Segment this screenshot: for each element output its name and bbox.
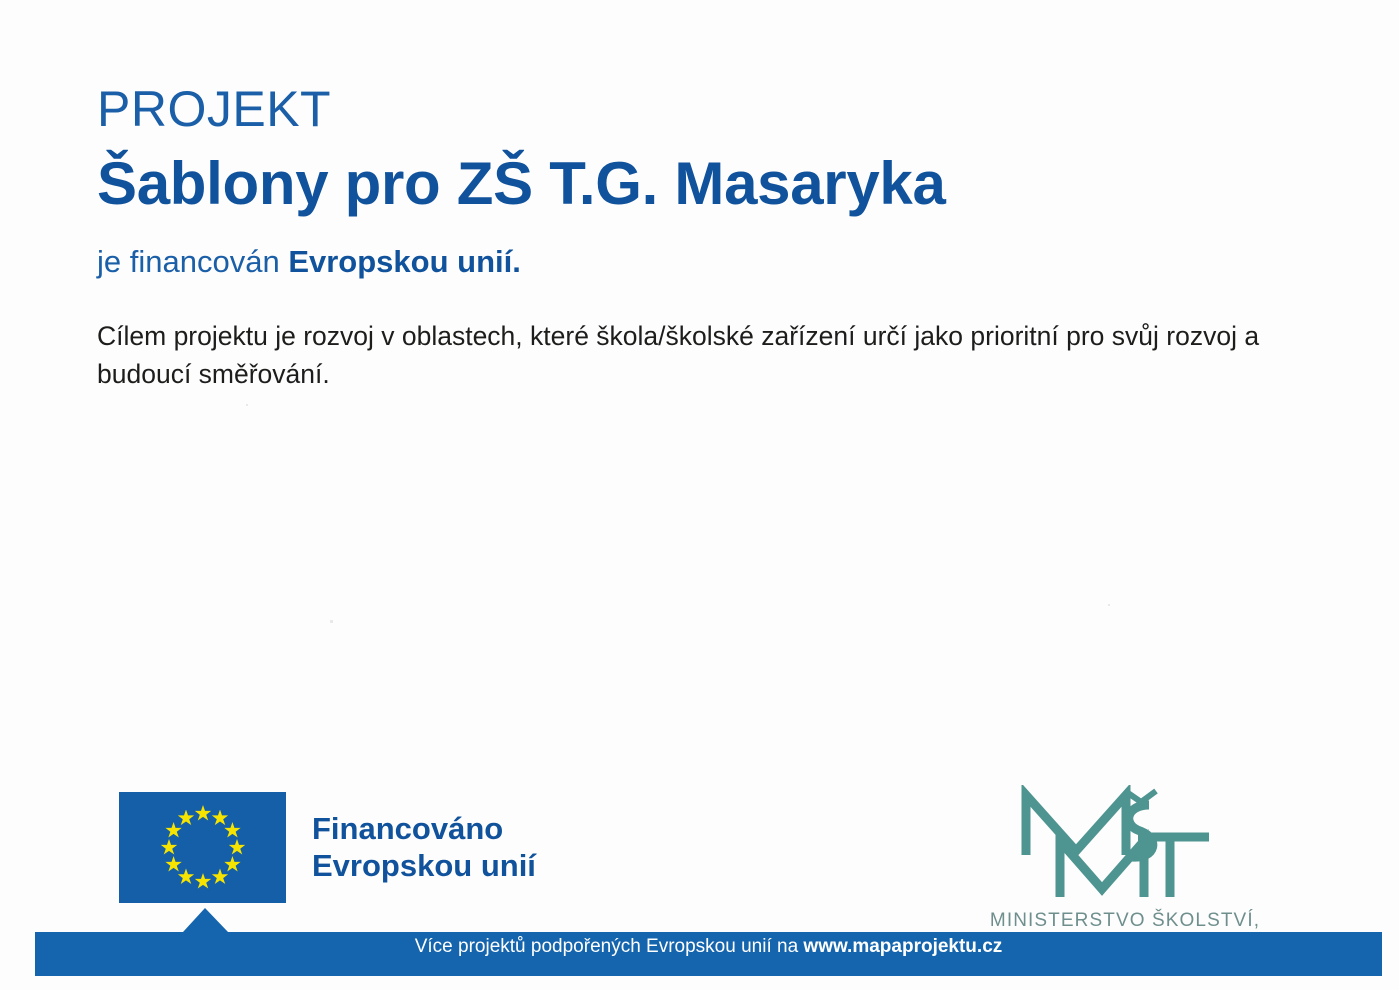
- eu-star-icon: [195, 805, 212, 822]
- eu-caption-line-2: Evropskou unií: [312, 848, 536, 883]
- funding-statement-emphasis: Evropskou unií.: [288, 244, 521, 279]
- footer-note: Více projektů podpořených Evropskou unií…: [35, 936, 1382, 958]
- footer-url[interactable]: www.mapaprojektu.cz: [803, 936, 1002, 957]
- eu-star-icon: [224, 856, 241, 873]
- scan-speck: [246, 404, 248, 406]
- scan-speck: [330, 620, 333, 623]
- eu-star-icon: [224, 822, 241, 839]
- eu-flag-icon: [119, 792, 286, 903]
- project-goal-paragraph: Cílem projektu je rozvoj v oblastech, kt…: [97, 318, 1277, 393]
- eu-star-icon: [212, 810, 229, 827]
- eu-stars-circle: [119, 792, 286, 903]
- project-poster: PROJEKT Šablony pro ZŠ T.G. Masaryka je …: [0, 0, 1399, 990]
- footer-note-prefix: Více projektů podpořených Evropskou unií…: [415, 936, 804, 957]
- footer-bar: Více projektů podpořených Evropskou unií…: [35, 908, 1382, 976]
- msmt-monogram-icon: [1010, 785, 1240, 903]
- eu-star-icon: [212, 868, 229, 885]
- eu-star-icon: [178, 868, 195, 885]
- eu-star-icon: [165, 856, 182, 873]
- eu-caption-line-1: Financováno: [312, 811, 503, 846]
- eu-star-icon: [229, 839, 246, 856]
- scan-speck: [1108, 604, 1110, 606]
- eu-star-icon: [195, 873, 212, 890]
- eu-star-icon: [161, 839, 178, 856]
- poster-text-block: PROJEKT Šablony pro ZŠ T.G. Masaryka je …: [97, 82, 1289, 394]
- eu-star-icon: [178, 810, 195, 827]
- funding-statement: je financován Evropskou unií.: [97, 243, 1289, 280]
- page-title: Šablony pro ZŠ T.G. Masaryka: [97, 150, 1289, 217]
- eu-star-icon: [165, 822, 182, 839]
- eu-funding-logo: Financováno Evropskou unií: [119, 792, 536, 903]
- eu-logo-caption: Financováno Evropskou unií: [312, 811, 536, 884]
- funding-statement-prefix: je financován: [97, 244, 288, 279]
- poster-eyebrow: PROJEKT: [97, 82, 1289, 136]
